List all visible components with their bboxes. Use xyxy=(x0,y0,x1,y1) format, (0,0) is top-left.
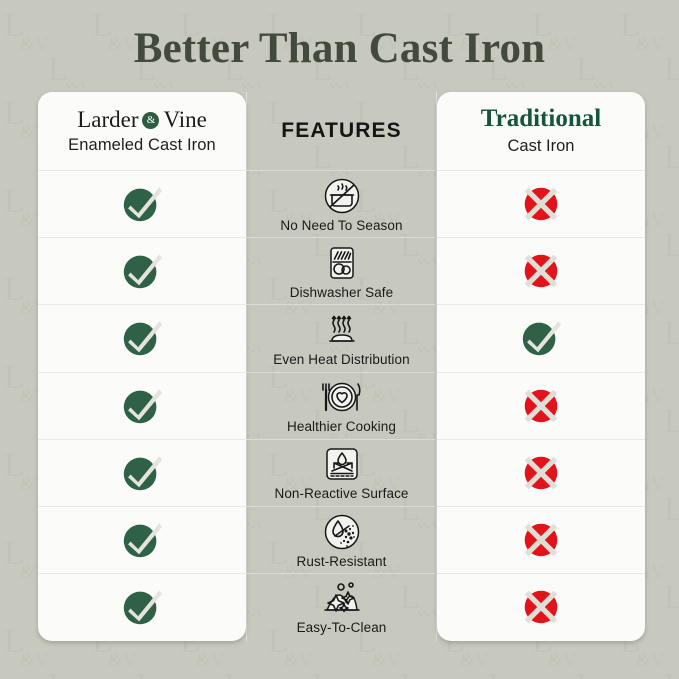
ampersand-badge-icon: & xyxy=(142,112,159,129)
feature-label: Easy-To-Clean xyxy=(297,620,387,635)
feature-label: Dishwasher Safe xyxy=(290,285,394,300)
traditional-header: Traditional Cast Iron xyxy=(437,92,645,170)
feature-label: Healthier Cooking xyxy=(287,419,396,434)
column-features: FEATURES No Need To Season Dishwasher Sa… xyxy=(246,92,437,641)
feature-label: No Need To Season xyxy=(280,218,402,233)
table-row: Easy-To-Clean xyxy=(246,573,437,640)
brand-name-first: Larder xyxy=(77,108,138,131)
table-row xyxy=(38,506,246,573)
page-title: Better Than Cast Iron xyxy=(0,24,679,73)
column-larder-vine: Larder & Vine Enameled Cast Iron xyxy=(38,92,246,641)
table-row: Non-Reactive Surface xyxy=(246,439,437,506)
traditional-title: Traditional xyxy=(481,106,601,131)
table-row xyxy=(437,372,645,439)
table-row xyxy=(38,439,246,506)
table-row xyxy=(437,439,645,506)
features-header: FEATURES xyxy=(246,92,437,170)
heat-waves-icon xyxy=(321,310,363,350)
column-traditional: Traditional Cast Iron xyxy=(437,92,645,641)
table-row: Dishwasher Safe xyxy=(246,237,437,304)
table-row xyxy=(38,573,246,640)
table-row: Rust-Resistant xyxy=(246,506,437,573)
larder-vine-subtitle: Enameled Cast Iron xyxy=(68,136,216,155)
brand-name-last: Vine xyxy=(163,108,206,131)
feature-label: Non-Reactive Surface xyxy=(274,486,408,501)
cross-mark-icon xyxy=(518,517,564,563)
feature-cells: No Need To Season Dishwasher Safe Even H… xyxy=(246,170,437,640)
table-row: No Need To Season xyxy=(246,170,437,237)
table-row: Healthier Cooking xyxy=(246,372,437,439)
table-row xyxy=(38,170,246,237)
plate-heart-icon xyxy=(319,377,365,417)
check-mark-icon xyxy=(518,315,564,361)
cross-mark-icon xyxy=(518,181,564,227)
feature-label: Even Heat Distribution xyxy=(273,352,410,367)
comparison-table: Larder & Vine Enameled Cast Iron FEATURE… xyxy=(0,92,679,644)
check-mark-icon xyxy=(119,584,165,630)
larder-vine-header: Larder & Vine Enameled Cast Iron xyxy=(38,92,246,170)
traditional-cells xyxy=(437,170,645,640)
table-row xyxy=(38,237,246,304)
traditional-subtitle: Cast Iron xyxy=(508,137,575,156)
table-row xyxy=(38,372,246,439)
cross-mark-icon xyxy=(518,248,564,294)
table-row xyxy=(38,304,246,371)
table-row xyxy=(437,237,645,304)
feature-label: Rust-Resistant xyxy=(297,554,387,569)
table-row xyxy=(437,170,645,237)
features-header-label: FEATURES xyxy=(281,119,401,143)
cross-mark-icon xyxy=(518,450,564,496)
table-row xyxy=(437,304,645,371)
sparkle-clean-icon xyxy=(319,580,365,618)
cross-mark-icon xyxy=(518,584,564,630)
check-mark-icon xyxy=(119,383,165,429)
check-mark-icon xyxy=(119,315,165,361)
rust-droplet-icon xyxy=(322,512,362,552)
check-mark-icon xyxy=(119,181,165,227)
dishwasher-icon xyxy=(322,243,362,283)
larder-vine-cells xyxy=(38,170,246,640)
cross-mark-icon xyxy=(518,383,564,429)
no-season-icon xyxy=(320,176,364,216)
water-repellent-icon xyxy=(322,444,362,484)
table-row: Even Heat Distribution xyxy=(246,304,437,371)
brand-logo: Larder & Vine xyxy=(77,108,207,131)
check-mark-icon xyxy=(119,517,165,563)
check-mark-icon xyxy=(119,248,165,294)
table-row xyxy=(437,506,645,573)
table-row xyxy=(437,573,645,640)
check-mark-icon xyxy=(119,450,165,496)
